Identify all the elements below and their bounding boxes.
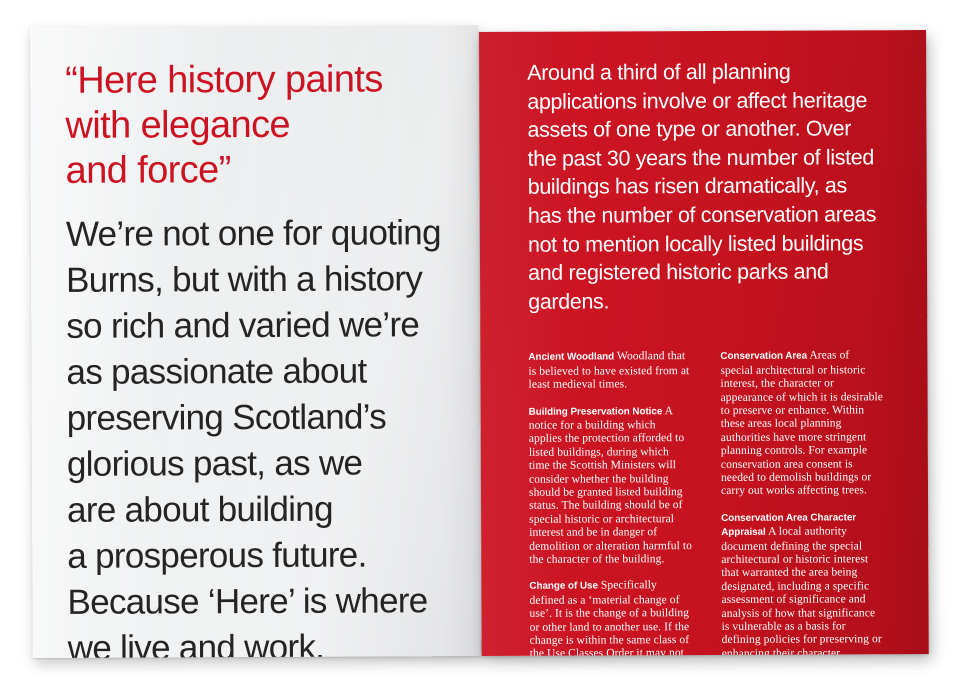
glossary-column-left: Ancient Woodland Woodland that is believ… xyxy=(528,349,693,656)
glossary-term: Building Preservation Notice xyxy=(529,406,663,418)
glossary-definition: Building Preservation Notice A notice fo… xyxy=(529,404,693,567)
glossary-term: Ancient Woodland xyxy=(528,352,614,363)
left-page-body-copy: We’re not one for quoting Burns, but wit… xyxy=(66,210,447,658)
glossary-term: Conservation Area xyxy=(720,351,807,362)
glossary-definition-text: A local authority document defining the … xyxy=(721,525,882,656)
glossary-entry: Building Preservation Notice A notice fo… xyxy=(529,404,693,567)
glossary-definition: Change of Use Specifically defined as a … xyxy=(529,579,693,656)
right-page: Around a third of all planning applicati… xyxy=(479,30,929,656)
intro-paragraph: Around a third of all planning applicati… xyxy=(527,57,883,316)
right-page-content: Around a third of all planning applicati… xyxy=(479,30,929,656)
glossary-entry: Conservation Area Character Appraisal A … xyxy=(721,510,885,656)
brochure-spread: “Here history paints with elegance and f… xyxy=(0,0,960,689)
glossary-entry: Conservation Area Areas of special archi… xyxy=(720,349,884,498)
left-page: “Here history paints with elegance and f… xyxy=(30,25,481,658)
glossary: Ancient Woodland Woodland that is believ… xyxy=(528,349,885,656)
glossary-term: Change of Use xyxy=(529,581,598,592)
pull-quote-headline: “Here history paints with elegance and f… xyxy=(65,57,445,194)
left-page-content: “Here history paints with elegance and f… xyxy=(30,25,481,658)
glossary-column-right: Conservation Area Areas of special archi… xyxy=(720,349,885,656)
glossary-definition-text: A notice for a building which applies th… xyxy=(529,404,692,566)
glossary-entry: Change of Use Specifically defined as a … xyxy=(529,579,693,656)
glossary-definition-text: Areas of special architectural or histor… xyxy=(720,349,883,498)
glossary-definition: Conservation Area Areas of special archi… xyxy=(720,349,884,498)
glossary-entry: Ancient Woodland Woodland that is believ… xyxy=(528,349,691,391)
glossary-definition: Ancient Woodland Woodland that is believ… xyxy=(528,349,691,391)
glossary-definition: Conservation Area Character Appraisal A … xyxy=(721,510,885,656)
